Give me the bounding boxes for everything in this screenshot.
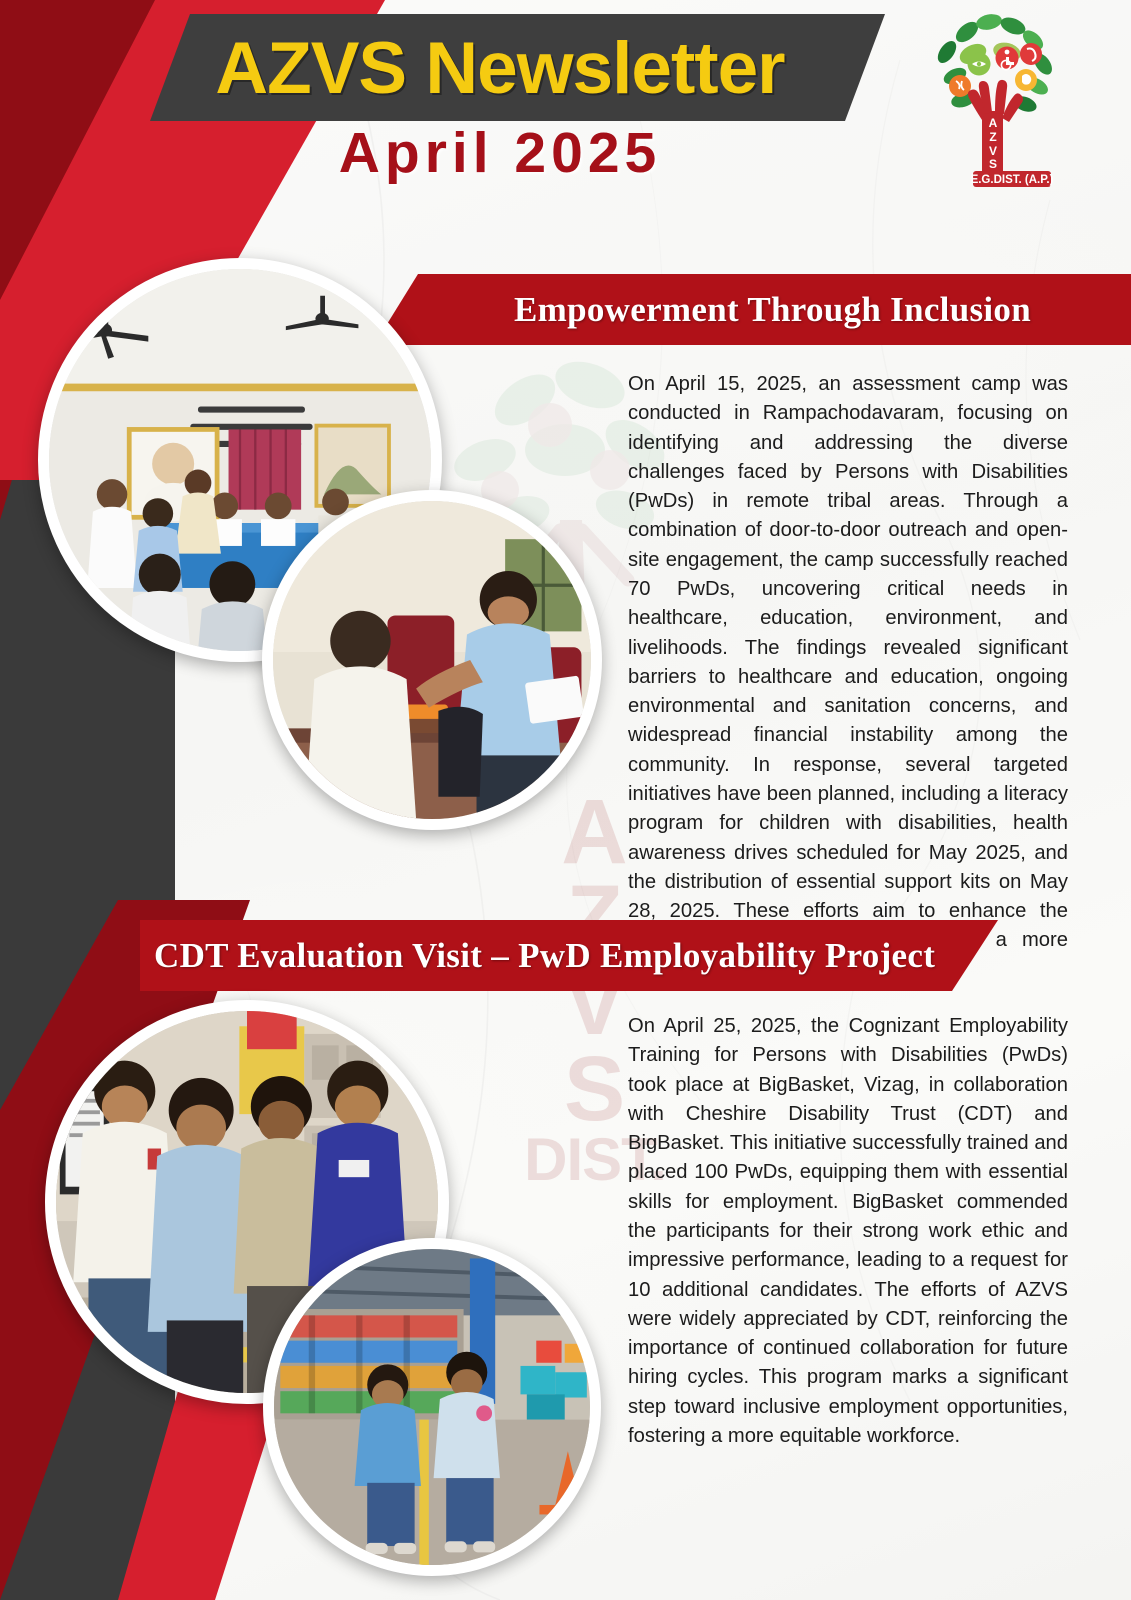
svg-text:A: A: [989, 116, 998, 130]
azvs-tree-logo: A Z V S E.G.DIST. (A.P.): [925, 8, 1060, 203]
photo-bigbasket-warehouse-pair: [263, 1238, 601, 1576]
hearing-icon: [1020, 43, 1042, 65]
photo-assessment-interview: [262, 490, 602, 830]
svg-text:V: V: [989, 144, 997, 158]
article-body-empowerment: On April 15, 2025, an assessment camp wa…: [628, 370, 1068, 985]
page-subtitle-date: April 2025: [150, 118, 850, 188]
svg-text:S: S: [989, 157, 997, 171]
page-title: AZVS Newsletter: [150, 16, 850, 120]
section-title-empowerment: Empowerment Through Inclusion: [514, 290, 1031, 330]
newsletter-page: A Z V S DIST. AZVS Newsletter April 2025: [0, 0, 1131, 1600]
svg-text:E.G.DIST. (A.P.): E.G.DIST. (A.P.): [971, 174, 1054, 186]
section-banner-cdt-evaluation: CDT Evaluation Visit – PwD Employability…: [140, 920, 998, 991]
article-body-cdt-evaluation: On April 25, 2025, the Cognizant Employa…: [628, 1012, 1068, 1451]
section-title-cdt-evaluation: CDT Evaluation Visit – PwD Employability…: [154, 936, 935, 976]
section-banner-empowerment: Empowerment Through Inclusion: [374, 274, 1131, 345]
svg-text:Z: Z: [989, 130, 996, 144]
